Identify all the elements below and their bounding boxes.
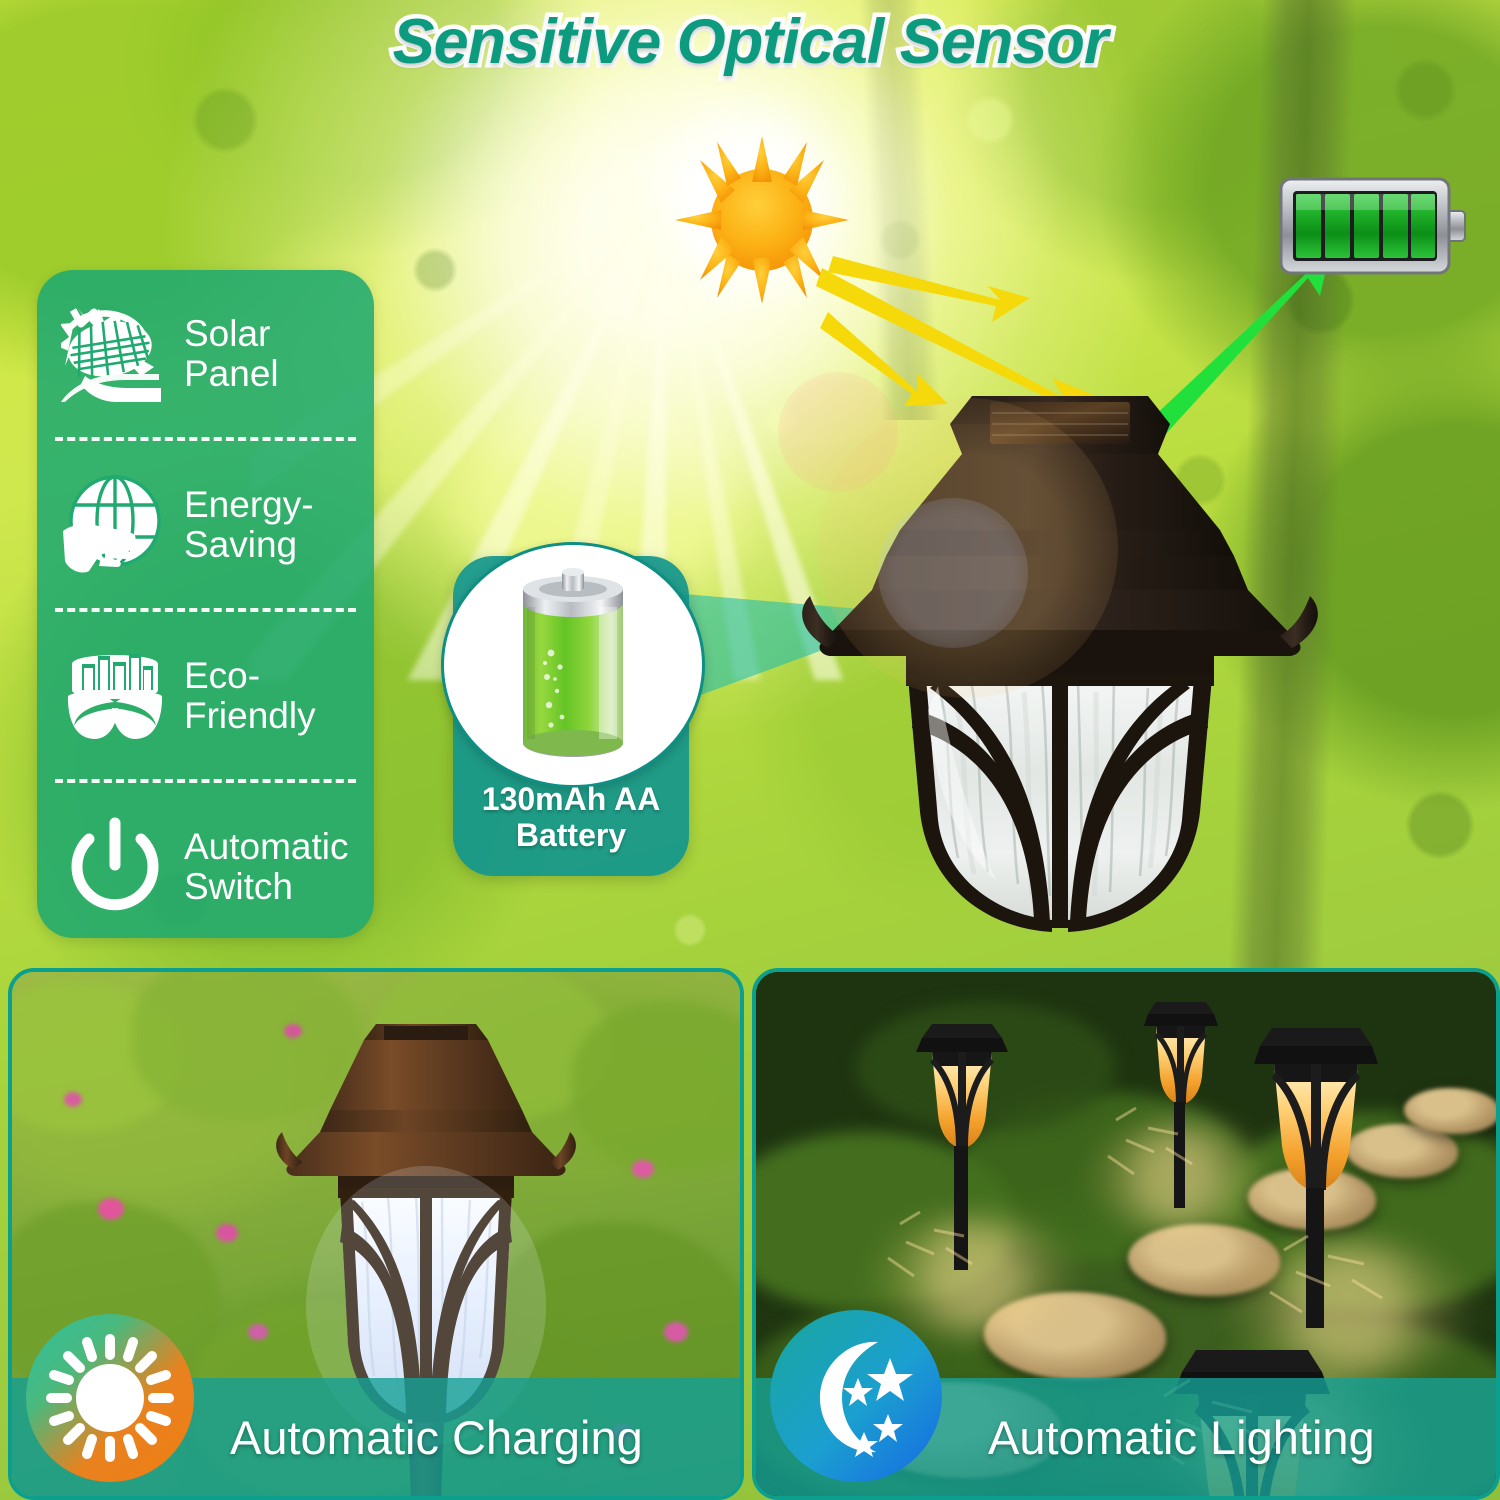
feature-label: Automatic Switch (184, 827, 349, 906)
battery-callout-line2: Battery (453, 818, 689, 854)
battery-level-indicator (1277, 173, 1477, 283)
caption-text: Automatic Charging (230, 1410, 643, 1465)
solar-panel-icon (57, 302, 172, 406)
power-button-icon (57, 817, 172, 917)
battery-callout-line1: 130mAh AA (453, 782, 689, 818)
moon-stars-icon (770, 1310, 942, 1482)
feature-item-automatic-switch: Automatic Switch (37, 783, 374, 938)
features-panel: Solar Panel (37, 270, 374, 938)
battery-callout-circle (441, 542, 705, 788)
garden-lamp-night (916, 1024, 1008, 1270)
globe-hand-icon (57, 475, 172, 575)
feature-label-line2: Panel (184, 354, 279, 394)
garden-lamp-night (1144, 1002, 1218, 1208)
feature-label-line1: Eco- (184, 656, 316, 696)
solar-pathway-light (700, 380, 1460, 970)
sun-icon (26, 1314, 194, 1482)
city-leaf-icon (57, 646, 172, 746)
sun-icon (655, 128, 870, 313)
feature-item-eco-friendly: Eco- Friendly (37, 612, 374, 779)
feature-label-line2: Saving (184, 525, 314, 565)
feature-item-energy-saving: Energy- Saving (37, 441, 374, 608)
automatic-lighting-panel: Automatic Lighting (752, 968, 1500, 1500)
automatic-charging-panel: Automatic Charging (8, 968, 744, 1500)
feature-item-solar-panel: Solar Panel (37, 270, 374, 437)
battery-callout-card: 130mAh AA Battery (453, 556, 689, 876)
battery-callout-label: 130mAh AA Battery (453, 782, 689, 854)
caption-text: Automatic Lighting (988, 1410, 1375, 1465)
aa-battery-icon (507, 567, 639, 763)
feature-label-line2: Friendly (184, 696, 316, 736)
feature-label-line1: Solar (184, 314, 279, 354)
feature-label-line1: Energy- (184, 485, 314, 525)
feature-label-line1: Automatic (184, 827, 349, 867)
feature-label: Eco- Friendly (184, 656, 316, 735)
feature-label: Energy- Saving (184, 485, 314, 564)
infographic-root: Sensitive Optical Sensor (0, 0, 1500, 1500)
feature-label-line2: Switch (184, 867, 349, 907)
feature-label: Solar Panel (184, 314, 279, 393)
page-title: Sensitive Optical Sensor (0, 6, 1500, 78)
